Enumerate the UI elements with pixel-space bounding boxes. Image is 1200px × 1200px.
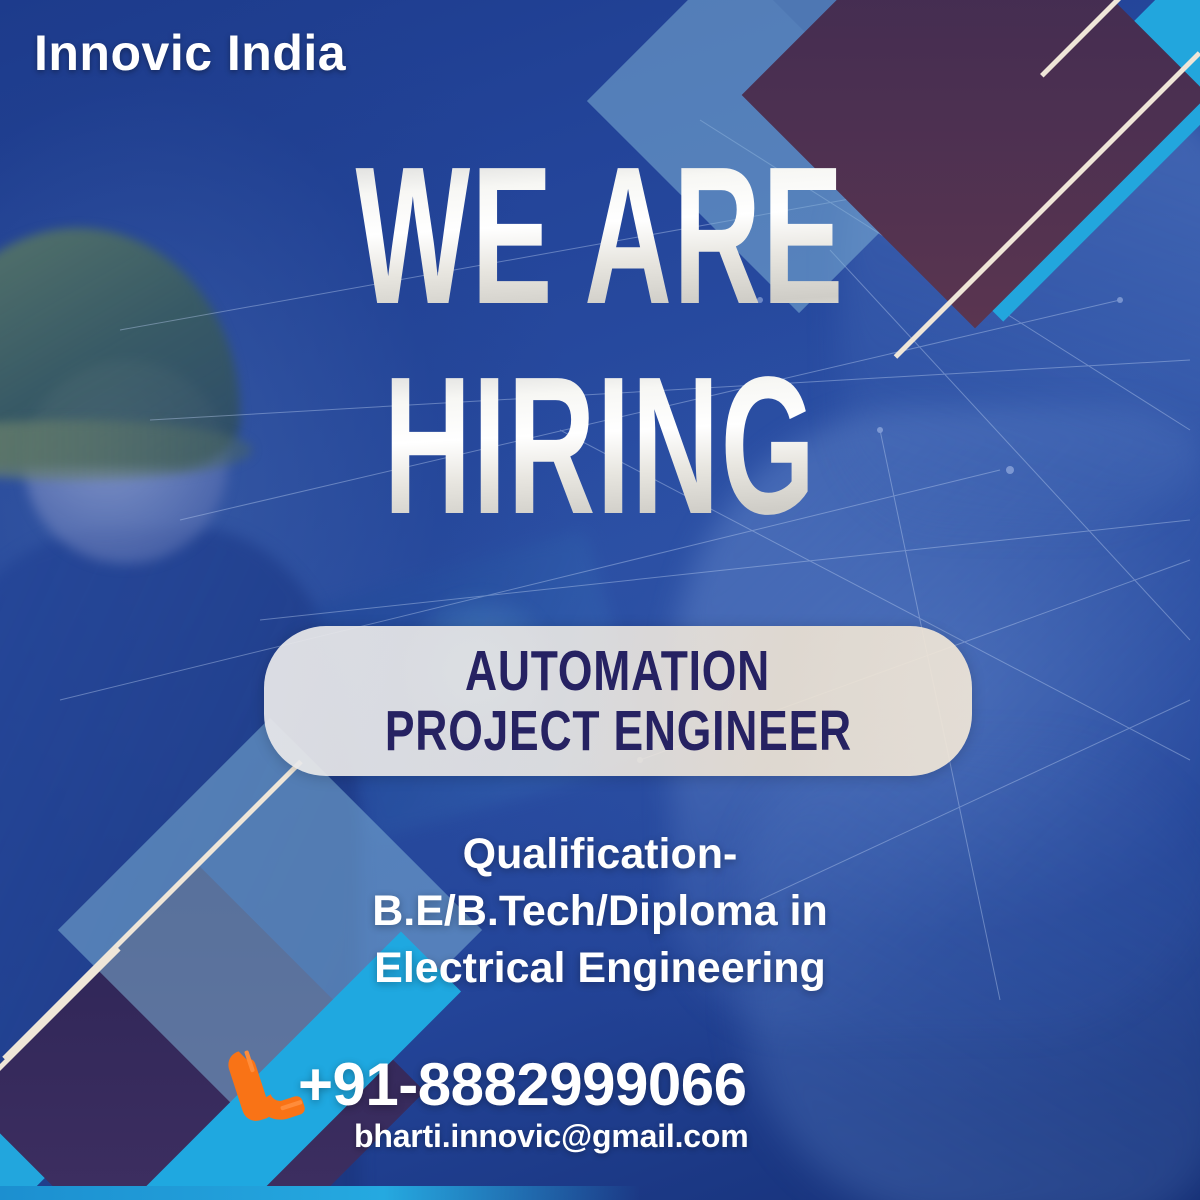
headline-line-1: WE ARE [228, 142, 972, 330]
job-title-pill: AUTOMATION PROJECT ENGINEER [264, 626, 972, 776]
qualification-line-3: Electrical Engineering [300, 940, 900, 997]
qualification-block: Qualification- B.E/B.Tech/Diploma in Ele… [300, 826, 900, 996]
job-title-line-2: PROJECT ENGINEER [384, 702, 851, 760]
job-title-line-1: AUTOMATION [465, 642, 770, 700]
contact-phone[interactable]: +91-8882999066 [298, 1050, 746, 1119]
phone-handset-icon [222, 1036, 308, 1140]
company-name: Innovic India [34, 24, 346, 82]
qualification-line-1: Qualification- [300, 826, 900, 883]
hiring-poster: Innovic India WE ARE HIRING AUTOMATION P… [0, 0, 1200, 1200]
headline-line-2: HIRING [228, 352, 972, 540]
contact-email[interactable]: bharti.innovic@gmail.com [354, 1118, 748, 1155]
qualification-line-2: B.E/B.Tech/Diploma in [300, 883, 900, 940]
